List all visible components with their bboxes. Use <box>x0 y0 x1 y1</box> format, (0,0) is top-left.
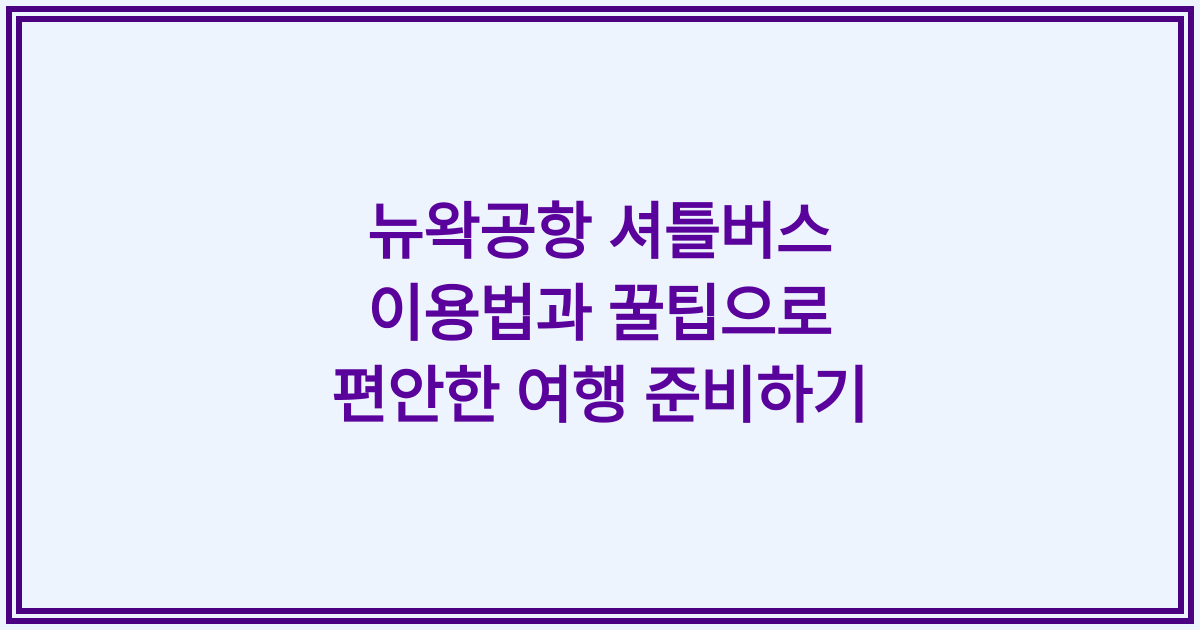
title-line-1: 뉴왁공항 셔틀버스 <box>60 192 1140 274</box>
title-line-3: 편안한 여행 준비하기 <box>60 356 1140 438</box>
page-title: 뉴왁공항 셔틀버스 이용법과 꿀팁으로 편안한 여행 준비하기 <box>0 192 1200 438</box>
title-line-2: 이용법과 꿀팁으로 <box>60 274 1140 356</box>
thumbnail-card: 뉴왁공항 셔틀버스 이용법과 꿀팁으로 편안한 여행 준비하기 <box>0 0 1200 630</box>
